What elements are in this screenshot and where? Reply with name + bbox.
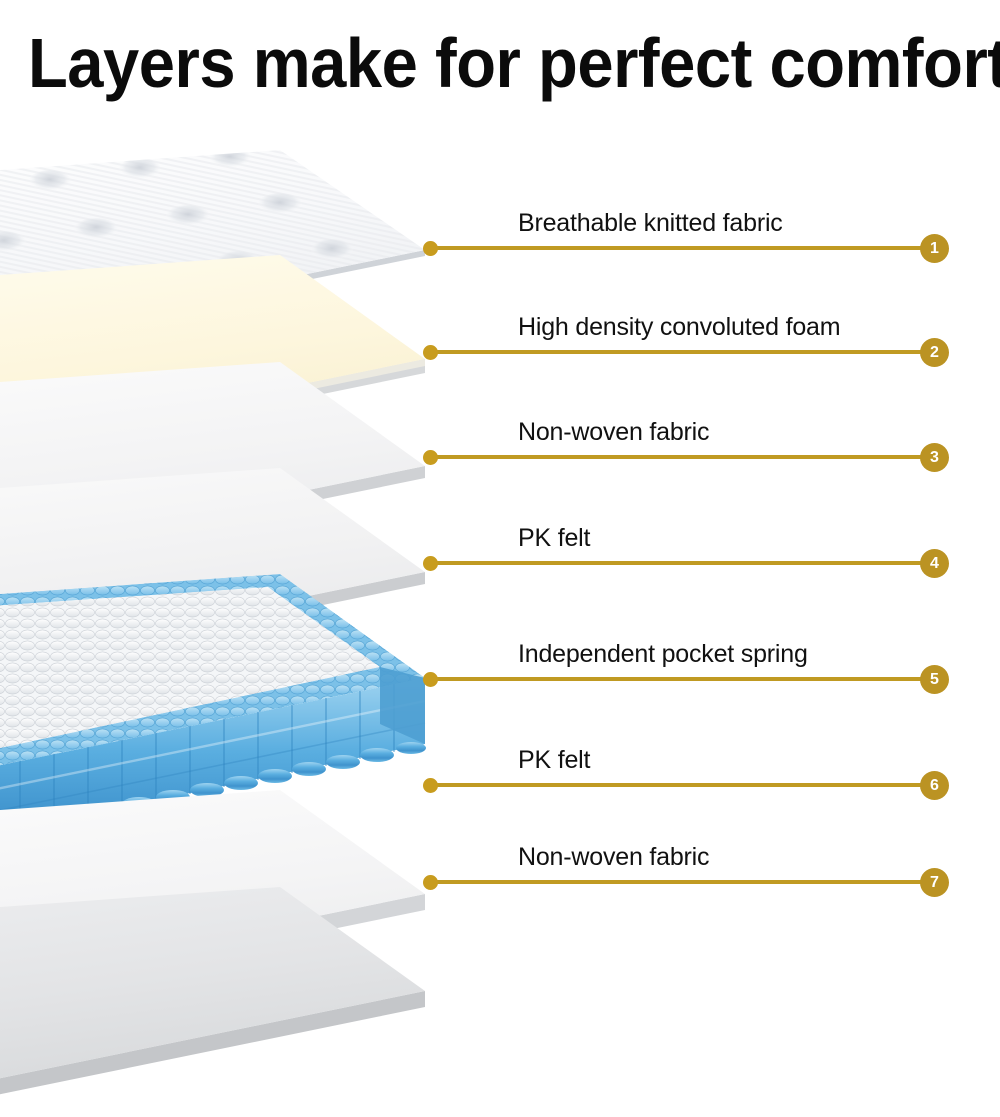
layer-number-badge-7[interactable]: 7 bbox=[920, 868, 949, 897]
layer-number-badge-4[interactable]: 4 bbox=[920, 549, 949, 578]
leader-dot-4 bbox=[423, 556, 438, 571]
leader-dot-6 bbox=[423, 778, 438, 793]
leader-line-5 bbox=[430, 677, 922, 681]
leader-line-3 bbox=[430, 455, 922, 459]
leader-dot-7 bbox=[423, 875, 438, 890]
leader-line-1 bbox=[430, 246, 922, 250]
layer-number-badge-2[interactable]: 2 bbox=[920, 338, 949, 367]
callout-label-2: High density convoluted foam bbox=[518, 313, 840, 342]
leader-dot-1 bbox=[423, 241, 438, 256]
leader-dot-3 bbox=[423, 450, 438, 465]
exploded-layer-illustration bbox=[0, 150, 1000, 980]
leader-dot-5 bbox=[423, 672, 438, 687]
layer-number-badge-1[interactable]: 1 bbox=[920, 234, 949, 263]
layer-number-badge-5[interactable]: 5 bbox=[920, 665, 949, 694]
callout-label-5: Independent pocket spring bbox=[518, 640, 808, 669]
layer-number-badge-3[interactable]: 3 bbox=[920, 443, 949, 472]
callout-label-6: PK felt bbox=[518, 746, 590, 775]
leader-line-6 bbox=[430, 783, 922, 787]
leader-line-4 bbox=[430, 561, 922, 565]
leader-dot-2 bbox=[423, 345, 438, 360]
layer-shape-7-non-woven-fabric bbox=[0, 887, 460, 1117]
callout-label-7: Non-woven fabric bbox=[518, 843, 709, 872]
callout-label-1: Breathable knitted fabric bbox=[518, 209, 783, 238]
layer-number-badge-6[interactable]: 6 bbox=[920, 771, 949, 800]
callout-label-3: Non-woven fabric bbox=[518, 418, 709, 447]
leader-line-2 bbox=[430, 350, 922, 354]
leader-line-7 bbox=[430, 880, 922, 884]
page-title: Layers make for perfect comfort bbox=[28, 24, 912, 102]
infographic-canvas: Layers make for perfect comfort bbox=[0, 0, 1000, 1000]
callout-label-4: PK felt bbox=[518, 524, 590, 553]
